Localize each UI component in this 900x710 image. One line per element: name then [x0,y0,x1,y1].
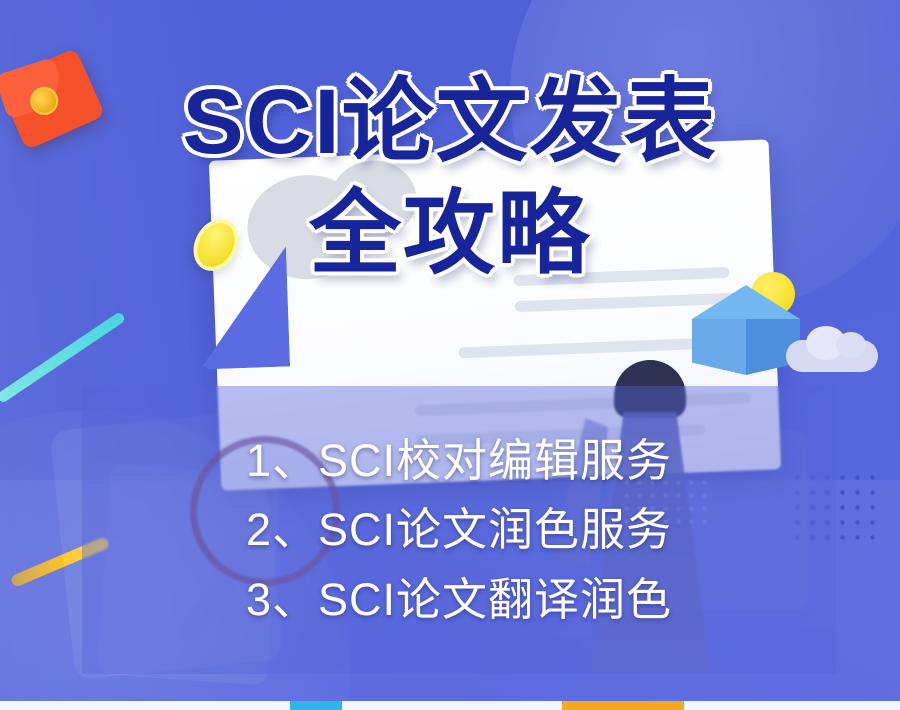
list-item: 3、SCI论文翻译润色 [246,570,672,629]
paper-line-1 [513,267,729,286]
poster-canvas: SCI论文发表 全攻略 1、SCI校对编辑服务 2、SCI论文润色服务 3、SC… [0,0,900,710]
bottom-strip-orange-segment [562,701,684,710]
bottom-strip [0,701,900,710]
bottom-strip-cyan-segment [290,701,342,710]
cloud-icon [786,340,878,372]
list-item: 2、SCI论文润色服务 [246,500,672,559]
cube-face-top [692,285,800,319]
service-list: 1、SCI校对编辑服务 2、SCI论文润色服务 3、SCI论文翻译润色 [82,386,836,674]
list-item: 1、SCI校对编辑服务 [246,431,672,490]
